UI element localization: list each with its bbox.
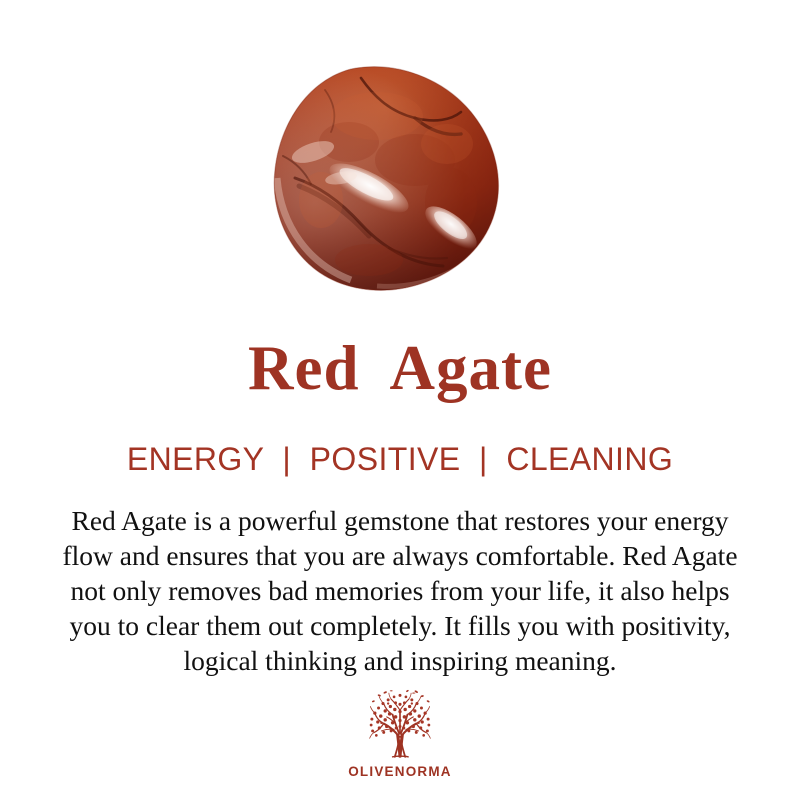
red-agate-info-card: Red Agate ENERGY | POSITIVE | CLEANING R… <box>0 0 800 800</box>
description-line: Red Agate is a powerful gemstone that re… <box>22 503 778 538</box>
keyword-subtitle: ENERGY | POSITIVE | CLEANING <box>0 443 800 477</box>
gemstone-image-area <box>0 60 800 300</box>
description-line: flow and ensures that you are always com… <box>22 538 778 573</box>
description-line: you to clear them out completely. It fil… <box>22 608 778 643</box>
logo-wordmark: OLIVENORMA <box>0 764 800 779</box>
page-title: Red Agate <box>0 337 800 400</box>
brand-logo: OLIVENORMA <box>0 688 800 779</box>
description-line: logical thinking and inspiring meaning. <box>22 643 778 678</box>
description-line: not only removes bad memories from your … <box>22 573 778 608</box>
stone-body <box>265 60 515 300</box>
description-text: Red Agate is a powerful gemstone that re… <box>22 503 778 678</box>
red-agate-stone-icon <box>265 60 515 300</box>
tree-logo-icon <box>362 688 438 762</box>
